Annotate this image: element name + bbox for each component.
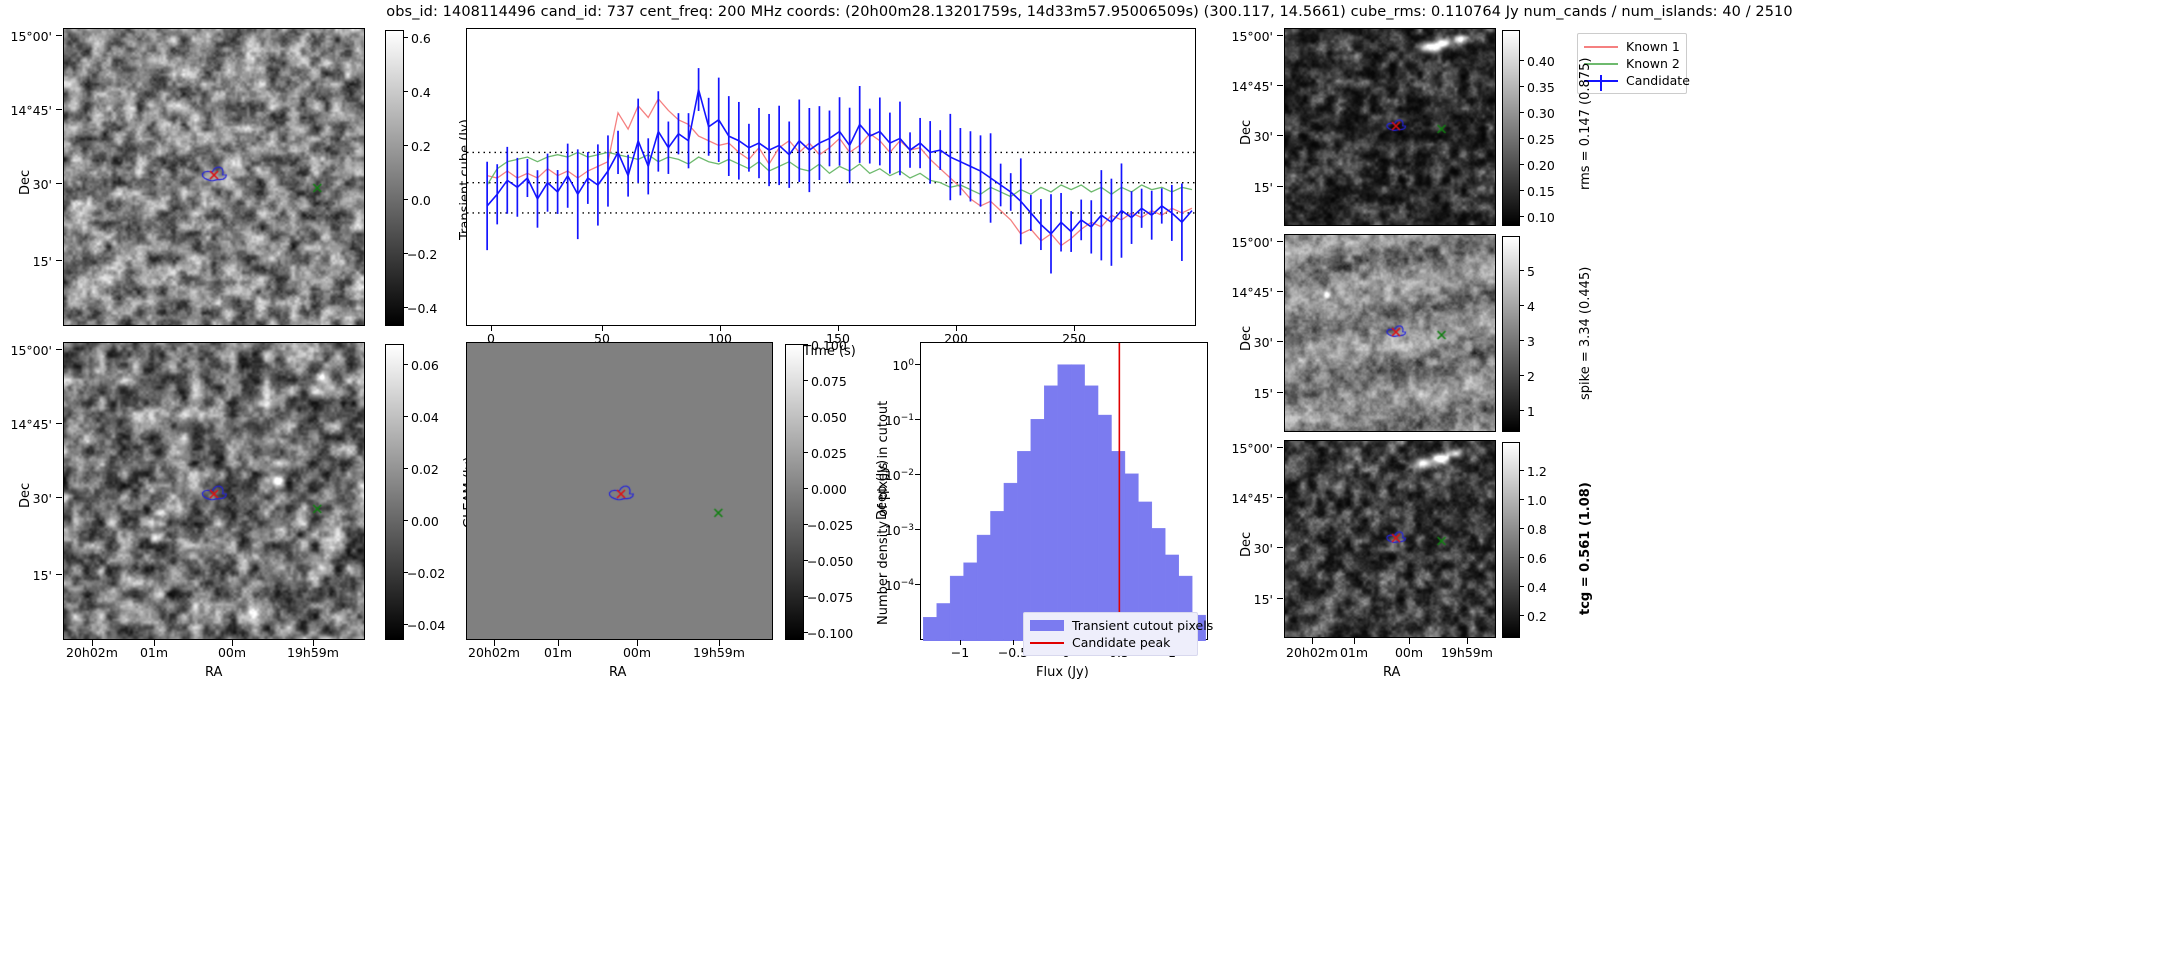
cb-rms-t0: 0.40 — [1527, 54, 1555, 69]
legend-label-candidate-peak: Candidate peak — [1072, 635, 1170, 650]
cb-tc-t2: 0.2 — [411, 139, 431, 154]
deep-xtick-0: 20h02m — [462, 645, 526, 660]
gleam-ytick-3: 15' — [16, 568, 52, 583]
transient-cube-ytick-0: 15°00' — [0, 29, 52, 44]
cb-tcg-t3: 0.6 — [1527, 551, 1547, 566]
tcg-xtick-1: 01m — [1330, 645, 1378, 660]
gleam-colorbar — [385, 344, 404, 640]
legend-label-hist-pixels: Transient cutout pixels — [1072, 618, 1213, 633]
rms-ytick-0: 15°00' — [1213, 29, 1273, 44]
deep-xtick-1: 01m — [534, 645, 582, 660]
cb-rms-t6: 0.10 — [1527, 210, 1555, 225]
hist-ytick-4: 10−4 — [876, 578, 914, 593]
rms-ytick-1: 14°45' — [1213, 79, 1273, 94]
gleam-ytick-1: 14°45' — [0, 417, 52, 432]
legend-row-candidate-peak: Candidate peak — [1030, 634, 1190, 651]
cb-rms-t3: 0.25 — [1527, 132, 1555, 147]
deep-xtick-2: 00m — [613, 645, 661, 660]
cb-dp-t2: 0.050 — [811, 410, 847, 425]
hist-ytick-2: 10−2 — [876, 468, 914, 483]
rms-colorbar-label: rms = 0.147 (0.875) — [1578, 58, 1593, 190]
transient-cube-ytick-2: 30' — [16, 177, 52, 192]
cb-gl-t2: 0.02 — [411, 462, 439, 477]
spike-ytick-0: 15°00' — [1213, 235, 1273, 250]
cb-gl-t0: 0.06 — [411, 358, 439, 373]
tcg-image[interactable] — [1284, 440, 1496, 638]
tcg-ytick-2: 30' — [1237, 541, 1273, 556]
legend-row-known2: Known 2 — [1584, 55, 1679, 72]
cb-tcg-t5: 0.2 — [1527, 609, 1547, 624]
hist-fill-swatch — [1030, 620, 1064, 631]
legend-row-known1: Known 1 — [1584, 38, 1679, 55]
cb-tc-t4: −0.2 — [407, 247, 437, 262]
cb-dp-t5: −0.025 — [807, 518, 853, 533]
gleam-xtick-1: 01m — [130, 645, 178, 660]
tcg-colorbar — [1502, 442, 1520, 638]
tcg-xtick-2: 00m — [1385, 645, 1433, 660]
transient-cube-image[interactable] — [63, 28, 365, 326]
cb-dp-t7: −0.075 — [807, 590, 853, 605]
gleam-xtick-0: 20h02m — [60, 645, 124, 660]
cb-rms-t1: 0.35 — [1527, 80, 1555, 95]
spike-ytick-3: 15' — [1237, 386, 1273, 401]
tcg-ytick-0: 15°00' — [1213, 441, 1273, 456]
lightcurve-legend[interactable]: Known 1 Known 2 Candidate — [1577, 33, 1687, 94]
cb-spk-t3: 2 — [1527, 369, 1535, 384]
cb-rms-t2: 0.30 — [1527, 106, 1555, 121]
cb-dp-t1: 0.075 — [811, 374, 847, 389]
spike-ytick-1: 14°45' — [1213, 285, 1273, 300]
lightcurve-axes[interactable] — [466, 28, 1196, 326]
gleam-ytick-2: 30' — [16, 491, 52, 506]
cb-tcg-t1: 1.0 — [1527, 493, 1547, 508]
cb-gl-t5: −0.04 — [407, 618, 445, 633]
tcg-colorbar-label: tcg = 0.561 (1.08) — [1578, 482, 1593, 615]
spike-colorbar — [1502, 236, 1520, 432]
transient-cube-ytick-1: 14°45' — [0, 103, 52, 118]
cb-rms-t5: 0.15 — [1527, 184, 1555, 199]
rms-colorbar — [1502, 30, 1520, 226]
cb-rms-t4: 0.20 — [1527, 158, 1555, 173]
cb-dp-t8: −0.100 — [807, 626, 853, 641]
deep-colorbar — [785, 344, 804, 640]
cb-tcg-t0: 1.2 — [1527, 464, 1547, 479]
deep-xtick-3: 19h59m — [684, 645, 754, 660]
cb-spk-t1: 4 — [1527, 299, 1535, 314]
cb-spk-t4: 1 — [1527, 404, 1535, 419]
cb-dp-t4: 0.000 — [811, 482, 847, 497]
gleam-ytick-0: 15°00' — [0, 343, 52, 358]
tcg-ytick-3: 15' — [1237, 592, 1273, 607]
deep-image[interactable] — [466, 342, 773, 640]
hist-ytick-1: 10−1 — [876, 413, 914, 428]
tcg-xlabel: RA — [1383, 665, 1400, 680]
cb-tc-t3: 0.0 — [411, 193, 431, 208]
rms-ytick-3: 15' — [1237, 180, 1273, 195]
cb-dp-t3: 0.025 — [811, 446, 847, 461]
page-title: obs_id: 1408114496 cand_id: 737 cent_fre… — [0, 4, 2179, 20]
cb-spk-t2: 3 — [1527, 334, 1535, 349]
tcg-ytick-1: 14°45' — [1213, 491, 1273, 506]
gleam-image[interactable] — [63, 342, 365, 640]
rms-image[interactable] — [1284, 28, 1496, 226]
gleam-xtick-2: 00m — [208, 645, 256, 660]
hist-ytick-3: 10−3 — [876, 523, 914, 538]
candidate-peak-swatch — [1030, 642, 1064, 644]
known1-line-swatch — [1584, 46, 1618, 48]
deep-xlabel: RA — [609, 665, 626, 680]
cb-tc-t5: −0.4 — [407, 301, 437, 316]
spike-colorbar-label: spike = 3.34 (0.445) — [1578, 267, 1593, 400]
cb-tcg-t4: 0.4 — [1527, 580, 1547, 595]
transient-cube-ytick-3: 15' — [16, 254, 52, 269]
cb-gl-t1: 0.04 — [411, 410, 439, 425]
histogram-axes[interactable] — [920, 342, 1208, 640]
transient-cube-colorbar — [385, 30, 404, 326]
cb-gl-t4: −0.02 — [407, 566, 445, 581]
hist-xtick-0: −1 — [940, 645, 980, 660]
histogram-legend[interactable]: Transient cutout pixels Candidate peak — [1023, 612, 1198, 656]
tcg-xtick-3: 19h59m — [1432, 645, 1502, 660]
legend-label-candidate: Candidate — [1626, 73, 1690, 88]
gleam-xtick-3: 19h59m — [278, 645, 348, 660]
cb-tcg-t2: 0.8 — [1527, 522, 1547, 537]
cb-tc-t0: 0.6 — [411, 31, 431, 46]
cb-dp-t0: 0.100 — [811, 338, 847, 353]
legend-row-candidate: Candidate — [1584, 72, 1679, 89]
legend-label-known1: Known 1 — [1626, 39, 1680, 54]
rms-ytick-2: 30' — [1237, 129, 1273, 144]
hist-ytick-0: 100 — [876, 358, 914, 373]
legend-row-hist-pixels: Transient cutout pixels — [1030, 617, 1190, 634]
cb-tc-t1: 0.4 — [411, 85, 431, 100]
cb-spk-t0: 5 — [1527, 264, 1535, 279]
cb-gl-t3: 0.00 — [411, 514, 439, 529]
spike-image[interactable] — [1284, 234, 1496, 432]
legend-label-known2: Known 2 — [1626, 56, 1680, 71]
cb-dp-t6: −0.050 — [807, 554, 853, 569]
gleam-xlabel: RA — [205, 665, 222, 680]
hist-xlabel: Flux (Jy) — [1036, 665, 1089, 680]
spike-ytick-2: 30' — [1237, 335, 1273, 350]
